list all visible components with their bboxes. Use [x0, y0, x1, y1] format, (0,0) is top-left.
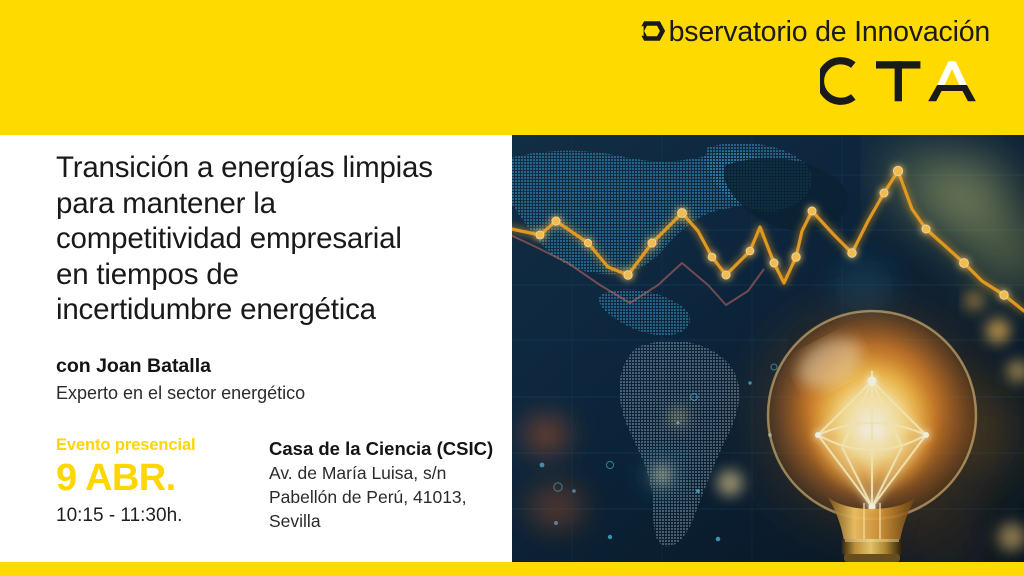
photo-illustration [512, 135, 1024, 562]
venue-address-line-3: Sevilla [269, 509, 493, 533]
speaker-role: Experto en el sector energético [56, 381, 486, 406]
event-title: Transición a energías limpias para mante… [56, 150, 486, 328]
venue-address-line-2: Pabellón de Perú, 41013, [269, 485, 493, 509]
event-date: 9 ABR. [56, 456, 269, 501]
title-line-5: incertidumbre energética [56, 292, 486, 328]
speaker-name: con Joan Batalla [56, 354, 486, 379]
observatory-name: bservatorio de Innovación [669, 17, 990, 47]
venue-block: Casa de la Ciencia (CSIC) Av. de María L… [269, 435, 493, 533]
brand-block: bservatorio de Innovación [637, 16, 990, 109]
title-line-2: para mantener la [56, 186, 486, 222]
event-time: 10:15 - 11:30h. [56, 503, 269, 529]
date-block: Evento presencial 9 ABR. 10:15 - 11:30h. [56, 435, 269, 529]
speaker-block: con Joan Batalla Experto en el sector en… [56, 354, 486, 406]
footer-band [0, 562, 1024, 576]
cta-logo-mark [820, 53, 990, 109]
lightbulb-world-map-photo [512, 135, 1024, 562]
content-column: Transición a energías limpias para mante… [56, 150, 486, 533]
venue-name: Casa de la Ciencia (CSIC) [269, 436, 493, 461]
event-kind-label: Evento presencial [56, 435, 269, 455]
observatory-lockup: bservatorio de Innovación [637, 16, 990, 47]
event-details-row: Evento presencial 9 ABR. 10:15 - 11:30h.… [56, 435, 486, 533]
cta-logo [637, 53, 990, 109]
venue-address-line-1: Av. de María Luisa, s/n [269, 461, 493, 485]
header-band: bservatorio de Innovación [0, 0, 1024, 135]
event-poster: bservatorio de Innovación Transic [0, 0, 1024, 576]
title-line-3: competitividad empresarial [56, 221, 486, 257]
hexagon-outline-icon [637, 16, 667, 46]
title-line-1: Transición a energías limpias [56, 150, 486, 186]
title-line-4: en tiempos de [56, 257, 486, 293]
